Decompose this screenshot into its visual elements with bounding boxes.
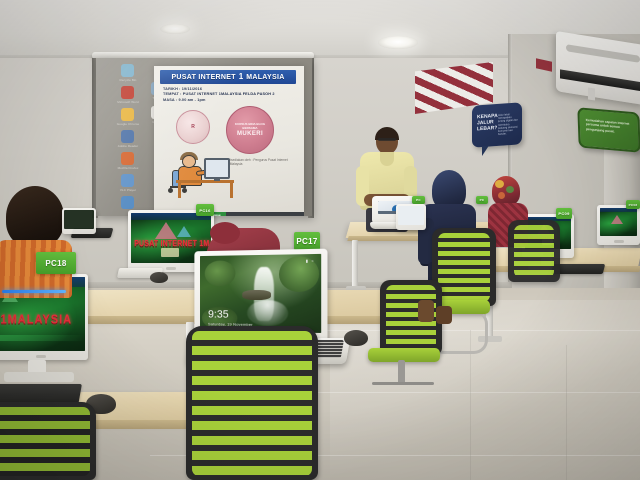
wallpaper-triangle (177, 226, 191, 237)
recycle-bin-icon[interactable] (121, 64, 134, 77)
desktop-icon-label: Recycle Bin (114, 78, 142, 82)
slide-banner-mark: 1 (239, 73, 243, 81)
slide-logo-small-text: R (191, 124, 195, 130)
slide-caption: Disediakan oleh : Pengurus Pusat Interne… (228, 158, 298, 167)
monitor-brand-logo (166, 267, 176, 270)
air-conditioner-pipe (588, 87, 595, 100)
slide-line-masa: MASA : 9.00 am - 1pm (163, 98, 301, 103)
cartoon-chair-base (170, 186, 186, 188)
desktop-icon-label: Internet (144, 120, 172, 124)
slide-banner: PUSAT INTERNET 1 MALAYSIA (160, 70, 296, 84)
desktop-icon-column-secondary: This PC B Internet (148, 82, 170, 152)
windows-lock-screen: 9:35 Saturday, 19 November ▮ ⌁ (200, 254, 321, 333)
slide-logo-mukeri: KURSUS BINA BLOG BERSAMA MUKERI (226, 106, 274, 154)
slide-banner-left: PUSAT INTERNET (171, 74, 235, 81)
presenter-glasses (378, 138, 396, 141)
slide-line-tarikh: TARIKH : 19/11/2016 (163, 87, 301, 92)
cartoon-body (178, 166, 202, 186)
desktop-icon-label: VLC Player (114, 188, 142, 192)
projection-screen: Recycle Bin Microsoft Word Google Chrome… (96, 58, 312, 216)
monitor-rear-left-screen (64, 210, 94, 229)
wallpaper-glow-band (0, 335, 85, 341)
participant-foot (418, 300, 434, 322)
cartoon-chair-wheel (182, 188, 187, 193)
participant-boy-front-left (0, 186, 78, 298)
chair-right-rear-mesh[interactable] (508, 220, 560, 282)
pc-tag-pc16-upper: PC16 (196, 204, 214, 216)
slide-banner-right: MALAYSIA (246, 74, 284, 81)
boy-head (6, 186, 64, 248)
pc-tag-pc08: PC08 (626, 200, 640, 209)
wallpaper-triangle (611, 215, 623, 224)
laptop-right-rear-1[interactable] (396, 204, 426, 230)
chair-right-rear-mesh-panel (514, 225, 554, 278)
classroom-photo: KENAPA JALUR LEBAR? Jalur lebar merapatk… (0, 0, 640, 480)
chair-foreground-centre[interactable] (186, 326, 318, 480)
sign-pengguna-internet: Kemudahan capaian internet percuma untuk… (577, 107, 640, 153)
monitor-pc08-screen (600, 208, 637, 236)
monitor-rear-left[interactable] (62, 208, 96, 234)
slide-cartoon-illustration (168, 140, 238, 200)
adobe-reader-icon[interactable] (121, 130, 134, 143)
monitor-pc18-screen-text: 1MALAYSIA (1, 313, 82, 327)
cartoon-chair (172, 170, 180, 188)
monitor-brand-logo (614, 240, 624, 243)
cartoon-desk-leg (178, 183, 181, 198)
desktop-icon-label: This PC (144, 96, 172, 100)
slide-logo-small: R (176, 110, 210, 144)
cartoon-chair-wheel (168, 188, 173, 193)
desktop-icon-label: Mozilla Firefox (114, 166, 142, 170)
slide-logo-line2: MUKERI (237, 131, 263, 137)
folder-icon[interactable] (121, 196, 134, 209)
lock-screen-status-icons: ▮ ⌁ (306, 258, 315, 263)
lock-foliage (205, 260, 235, 286)
mozilla-firefox-icon[interactable] (121, 152, 134, 165)
google-chrome-icon[interactable] (121, 108, 134, 121)
slide-detail-lines: TARIKH : 19/11/2016 TEMPAT : PUSAT INTER… (163, 87, 301, 103)
monitor-pc18-foot (4, 372, 74, 382)
vlc-player-icon[interactable] (121, 174, 134, 187)
office-word-icon[interactable] (121, 86, 134, 99)
pc-tag-right-rear: PC (476, 196, 488, 204)
chair-mid-right-base (372, 382, 434, 385)
mouse-pc16[interactable] (150, 272, 168, 283)
hijab-floral-pattern (495, 180, 504, 188)
sign-green-body: Kemudahan capaian internet percuma untuk… (586, 118, 636, 136)
computer-icon[interactable] (151, 82, 164, 95)
lock-waterfall-pool (247, 300, 288, 327)
cartoon-arm (196, 169, 213, 176)
wallpaper-card (161, 248, 179, 257)
pc-tag-pc17: PC17 (294, 232, 320, 250)
laptop-right-rear-1-screen (398, 206, 424, 225)
cartoon-monitor (204, 158, 230, 179)
chair-foreground-left[interactable] (0, 402, 96, 480)
pc-tag-pc09: PC09 (556, 208, 572, 219)
desktop-icon-label: Google Chrome (114, 122, 142, 126)
floor-tile-seam (566, 345, 567, 480)
cartoon-hair (180, 152, 198, 160)
sign-kenapa-jalur-lebar: KENAPA JALUR LEBAR? Jalur lebar merapatk… (472, 102, 522, 147)
browser-icon[interactable]: B (151, 106, 164, 119)
wallpaper-triangle (155, 222, 177, 239)
cartoon-desk-leg (230, 183, 233, 198)
desktop-icon-label: Adobe Reader (114, 144, 142, 148)
chair-mid-right-post (398, 360, 405, 384)
mouse-pc17[interactable] (344, 330, 368, 346)
cartoon-head (182, 155, 196, 168)
lock-screen-time: 9:35 (208, 310, 229, 321)
presenter-collar (380, 152, 394, 166)
ceiling-light-main (378, 36, 418, 49)
cartoon-desk (176, 180, 234, 183)
slide-logo-line1: KURSUS BINA BLOG BERSAMA (227, 123, 273, 130)
monitor-pc08-wallpaper (600, 208, 637, 236)
monitor-pc08[interactable] (597, 205, 640, 245)
sign-blue-title: KENAPA JALUR LEBAR? (477, 113, 497, 132)
pc-power-led-pc18 (2, 290, 66, 293)
chair-right-mesh-panel (438, 233, 490, 302)
pc-tag-pc18: PC18 (36, 252, 76, 274)
presentation-slide: PUSAT INTERNET 1 MALAYSIA TARIKH : 19/11… (154, 66, 304, 212)
participant-foot (436, 306, 452, 324)
sign-blue-body: Jalur lebar merapatkan jurang digital da… (498, 112, 519, 136)
chair-foreground-centre-mesh (192, 331, 312, 476)
monitor-brand-logo (36, 355, 46, 358)
partial-person-shoulder (210, 222, 240, 244)
hijab-floral-pattern (506, 186, 514, 193)
desktop-icon-column: Recycle Bin Microsoft Word Google Chrome… (118, 62, 140, 212)
cartoon-monitor-stand (214, 178, 220, 181)
hijab-floral-pattern (498, 192, 505, 199)
ceiling-light-secondary (160, 24, 190, 34)
desk-presenter-leg (352, 240, 358, 288)
desktop-icon-label: Microsoft Word (114, 100, 142, 104)
slide-line-tempat: TEMPAT : PUSAT INTERNET 1MALAYSIA FELDA … (163, 92, 301, 97)
laptop-pc17-screen: 9:35 Saturday, 19 November ▮ ⌁ (200, 254, 321, 333)
lock-rock (242, 290, 271, 299)
chair-foreground-left-mesh (0, 407, 90, 476)
